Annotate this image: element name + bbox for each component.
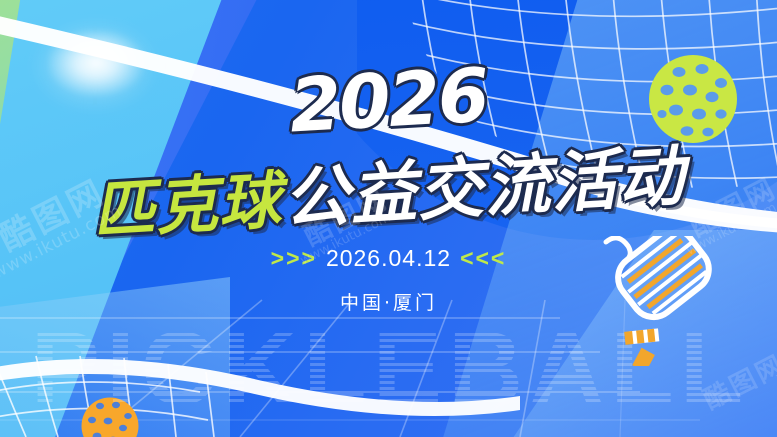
event-date: 2026.04.12	[326, 245, 451, 271]
chevron-right-icon: <<<	[460, 245, 506, 271]
headline-green-text: 匹克球	[90, 149, 284, 250]
event-location: 中国·厦门	[0, 288, 777, 315]
chevron-left-icon: >>>	[271, 245, 317, 271]
event-date-line: >>>2026.04.12<<<	[0, 245, 777, 272]
title-block: 2026 匹克球公益交流活动 >>>2026.04.12<<< 中国·厦门	[0, 0, 777, 437]
poster-canvas: PICKLEBALL	[0, 0, 777, 437]
